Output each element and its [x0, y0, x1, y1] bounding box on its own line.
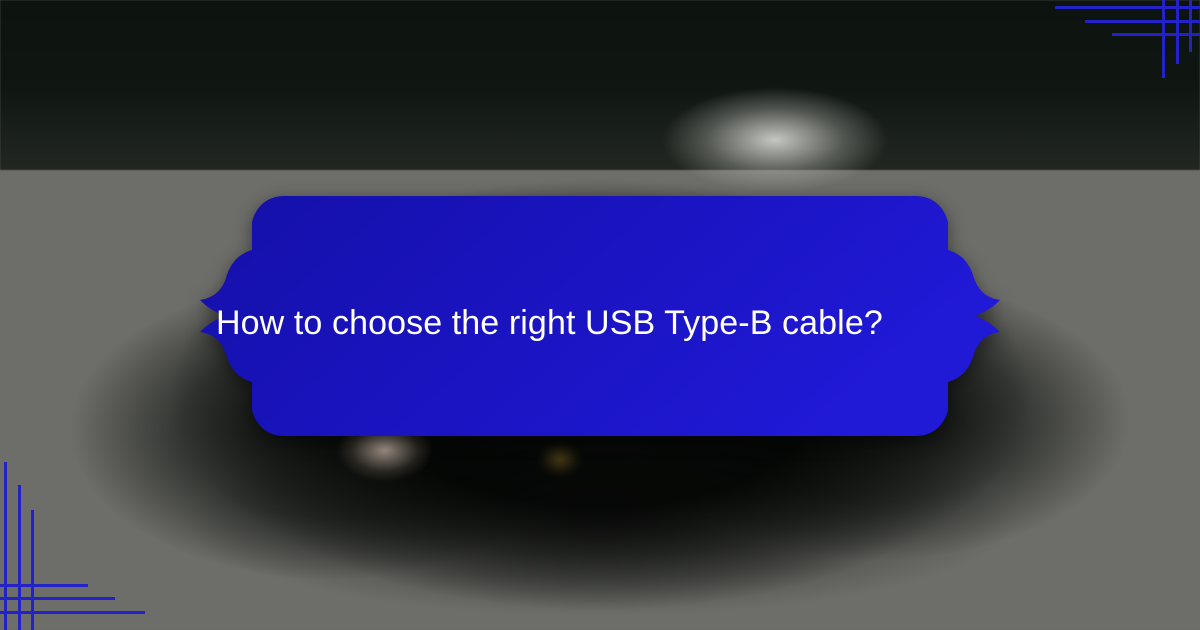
- banner-title-text: How to choose the right USB Type-B cable…: [0, 300, 1200, 346]
- banner-canvas: How to choose the right USB Type-B cable…: [0, 0, 1200, 630]
